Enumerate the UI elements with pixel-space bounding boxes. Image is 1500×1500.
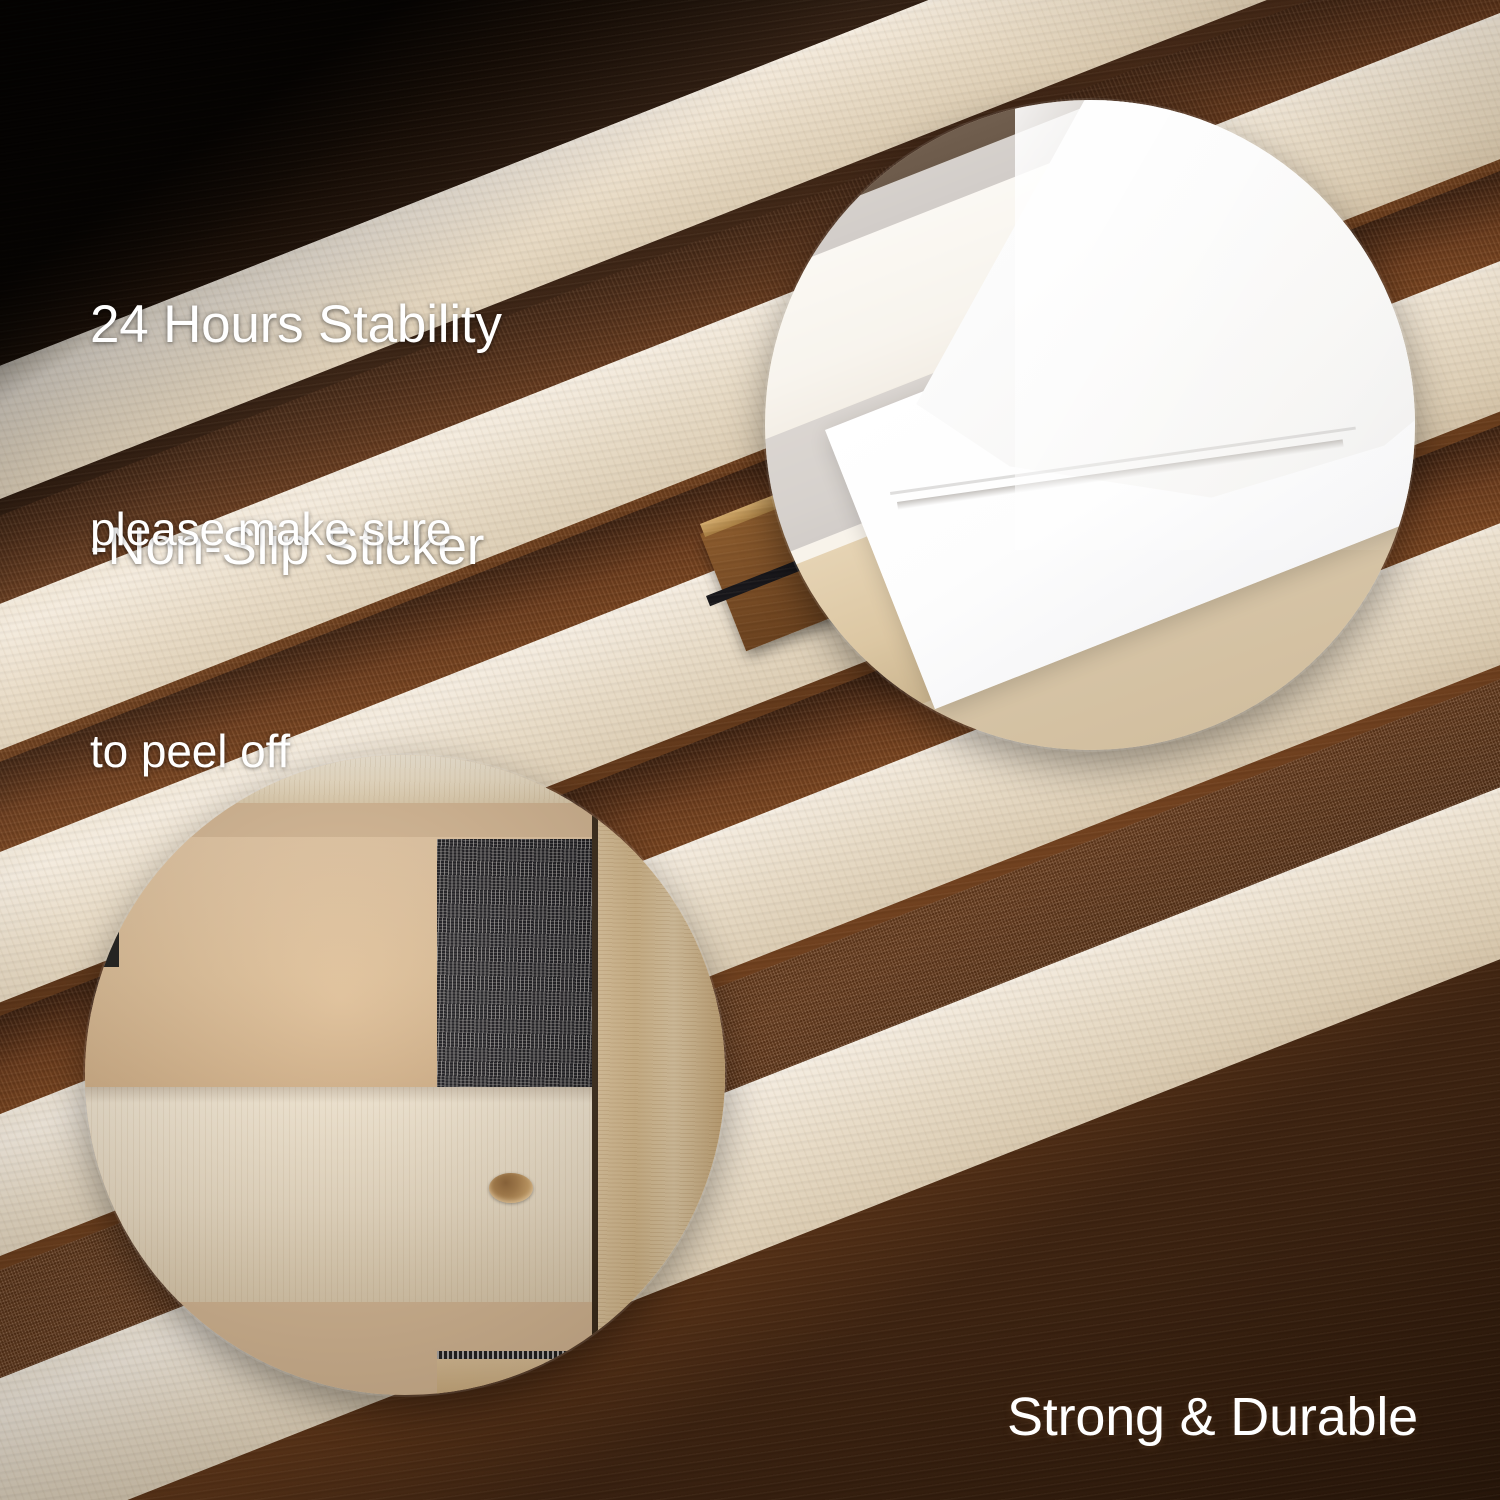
headline-bottom-right: Strong & Durable -Wooden Slat [1007,1222,1418,1500]
callout-non-slip-sticker [765,100,1415,750]
subtext-top-line-2: to peel off [90,714,451,788]
slat-drill-hole [489,1173,533,1203]
headline-bottom-line-1: Strong & Durable [1007,1378,1418,1456]
zoom-vertical-board [597,755,725,1395]
zoom-board-lower-strip [437,1359,725,1395]
anti-slip-mesh-patch [437,839,597,1089]
subtext-top-line-1: please make sure [90,492,451,566]
subtext-top-left: please make sure to peel off [90,344,451,936]
zoom-board-seam [592,755,598,1395]
product-feature-image: 24 Hours Stability -Non-Slip Sticker ple… [0,0,1500,1500]
